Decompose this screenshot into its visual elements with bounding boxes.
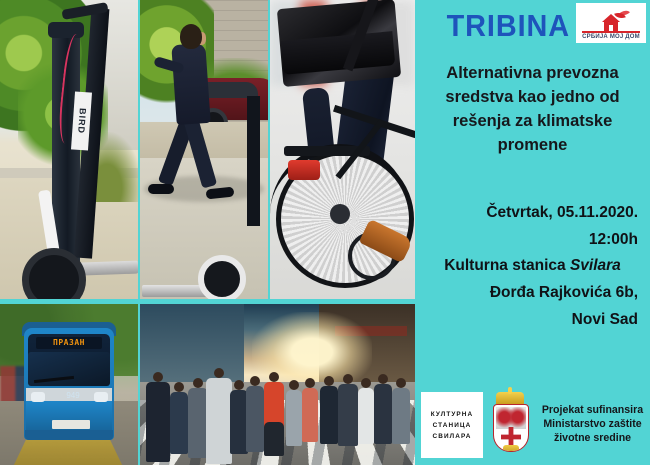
photo-scooter: BIRD bbox=[0, 0, 138, 299]
bicycle-rear-light bbox=[288, 160, 320, 180]
bus-headlight-right bbox=[94, 392, 108, 402]
walker-scooter-wheel bbox=[198, 255, 246, 299]
subtitle-line: promene bbox=[423, 134, 642, 158]
pedestrian bbox=[264, 422, 284, 456]
photo-walker bbox=[140, 0, 268, 299]
svilara-logo-line: СВИЛАРА bbox=[433, 433, 472, 440]
venue-prefix: Kulturna stanica bbox=[444, 257, 570, 274]
pedestrian bbox=[286, 390, 302, 446]
pedestrian bbox=[302, 388, 318, 442]
event-subtitle: Alternativna prevozna sredstva kao jedno… bbox=[423, 62, 642, 158]
info-panel: СРБИЈА МОЈ ДОМ TRIBINA Alternativna prev… bbox=[415, 0, 650, 465]
event-address: Đorđa Rajkovića 6b, bbox=[421, 280, 644, 307]
bus-headlight-left bbox=[31, 392, 45, 402]
walker-head bbox=[180, 24, 202, 49]
kulturna-stanica-svilara-logo: КУЛТУРНА СТАНИЦА СВИЛАРА bbox=[421, 392, 483, 458]
bus-led-destination-sign: ПРАЗАН bbox=[36, 337, 102, 349]
event-venue: Kulturna stanica Svilara bbox=[421, 253, 644, 280]
svilara-logo-line: КУЛТУРНА bbox=[431, 411, 473, 418]
pedestrian bbox=[320, 386, 338, 444]
page-title: TRIBINA bbox=[423, 8, 642, 44]
venue-name: Svilara bbox=[570, 257, 621, 274]
event-date: Četvrtak, 05.11.2020. bbox=[421, 200, 644, 227]
shield-icon bbox=[493, 404, 529, 452]
subtitle-line: Alternativna prevozna bbox=[423, 62, 642, 86]
pedestrian bbox=[392, 388, 410, 444]
photo-collage: BIRD bbox=[0, 0, 415, 465]
footer-logos: КУЛТУРНА СТАНИЦА СВИЛАРА Projekat sufina… bbox=[421, 389, 648, 461]
ministry-line: životne sredine bbox=[537, 432, 648, 446]
pedestrian bbox=[188, 388, 208, 458]
photo-crosswalk bbox=[140, 304, 415, 465]
ministry-funding-note: Projekat sufinansira Ministarstvo zaštit… bbox=[537, 404, 648, 446]
ministry-line: Projekat sufinansira bbox=[537, 404, 648, 418]
walker-lamp-post bbox=[247, 96, 260, 226]
event-details: Četvrtak, 05.11.2020. 12:00h Kulturna st… bbox=[421, 200, 644, 333]
walker-torso bbox=[171, 43, 210, 125]
cross-icon bbox=[501, 427, 521, 447]
walker-shoe-back bbox=[148, 184, 174, 194]
pedestrian bbox=[206, 378, 232, 464]
pedestrian bbox=[338, 384, 358, 446]
pedestrian bbox=[170, 392, 188, 454]
inner-crown-icon bbox=[503, 445, 519, 452]
walker-foreground-scooter bbox=[142, 255, 260, 299]
bus-fleet-number: 949 bbox=[60, 390, 86, 401]
subtitle-line: rešenja za klimatske bbox=[423, 110, 642, 134]
pedestrian bbox=[246, 386, 264, 452]
eagle-icon bbox=[496, 407, 526, 429]
event-time: 12:00h bbox=[421, 227, 644, 254]
photo-bicycle bbox=[270, 0, 415, 299]
ministry-line: Ministarstvo zaštite bbox=[537, 418, 648, 432]
pedestrian bbox=[146, 382, 170, 462]
pedestrian bbox=[358, 388, 374, 444]
svilara-logo-line: СТАНИЦА bbox=[433, 422, 472, 429]
bus-bumper bbox=[25, 430, 113, 440]
serbia-coat-of-arms-icon bbox=[488, 392, 532, 458]
pedestrian bbox=[374, 384, 392, 444]
subtitle-line: sredstva kao jedno od bbox=[423, 86, 642, 110]
event-city: Novi Sad bbox=[421, 307, 644, 334]
bus-licence-plate bbox=[52, 420, 90, 429]
photo-bus: ПРАЗАН 949 bbox=[0, 304, 138, 465]
event-poster: BIRD bbox=[0, 0, 650, 465]
